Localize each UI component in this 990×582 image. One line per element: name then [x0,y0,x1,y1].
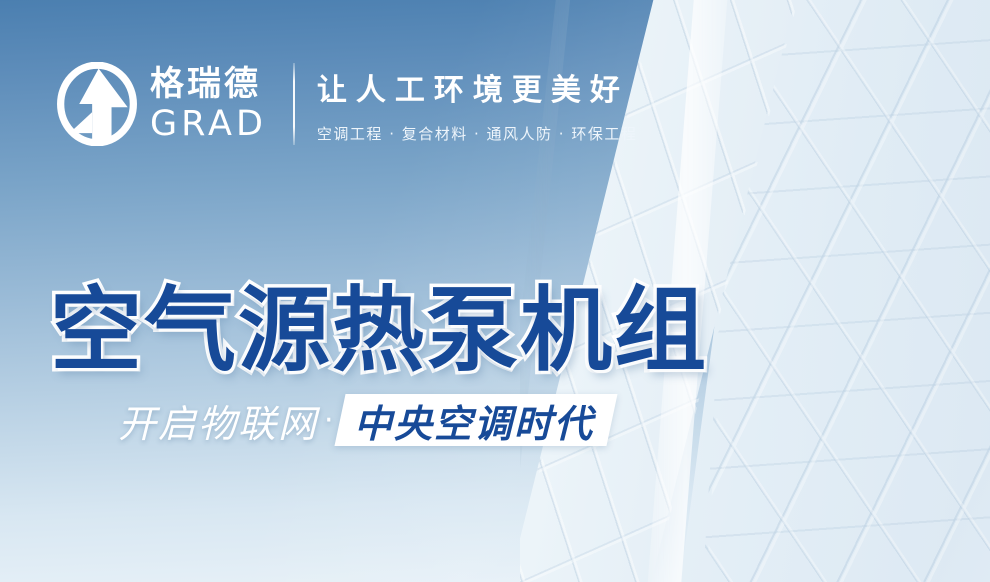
brand-divider [293,63,295,145]
brand-name-block: 格瑞德 GRAD [150,67,267,142]
hero-banner: 格瑞德 GRAD 让人工环境更美好 空调工程 · 复合材料 · 通风人防 · 环… [0,0,990,582]
slogan-block: 让人工环境更美好 空调工程 · 复合材料 · 通风人防 · 环保工程 [317,65,637,144]
hero-subtitle-highlight-band: 中央空调时代 [334,394,617,446]
hero-subtitle-separator: · [324,403,334,438]
brand-name-cn: 格瑞德 [150,67,267,101]
hero-subtitle-highlight-text: 中央空调时代 [354,393,594,448]
hero-subtitle-plain: 开启物联网 [118,393,318,448]
slogan-primary: 让人工环境更美好 [317,65,637,109]
slogan-secondary: 空调工程 · 复合材料 · 通风人防 · 环保工程 [317,123,637,144]
brand-name-en: GRAD [150,107,267,142]
brand-lockup: 格瑞德 GRAD 让人工环境更美好 空调工程 · 复合材料 · 通风人防 · 环… [56,58,637,150]
hero-subtitle: 开启物联网 · 中央空调时代 [118,392,612,448]
grad-circle-arrow-logo [56,62,138,146]
hero-headline: 空气源热泵机组 [50,256,708,389]
